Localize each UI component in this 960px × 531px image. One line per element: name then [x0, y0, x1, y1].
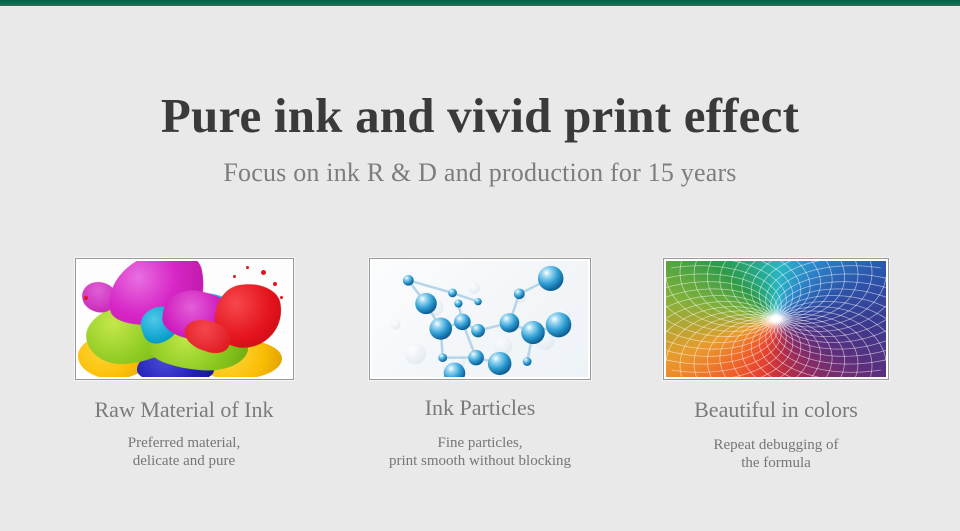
top-accent-bar: [0, 0, 960, 6]
color-wheel-spiral-image: [666, 261, 886, 377]
feature-row: Raw Material of Ink Preferred material, …: [0, 258, 960, 472]
feature-description-1: Preferred material, delicate and pure: [128, 434, 240, 470]
spiral-grid-overlay: [666, 261, 886, 377]
feature-image-frame-3: [663, 258, 889, 380]
feature-description-3: Repeat debugging of the formula: [714, 436, 839, 472]
feature-title-1: Raw Material of Ink: [95, 396, 274, 424]
page-title: Pure ink and vivid print effect: [0, 86, 960, 146]
paint-splash-image: [78, 261, 291, 377]
feature-card-beautiful-colors: Beautiful in colors Repeat debugging of …: [631, 258, 921, 472]
feature-image-frame-2: [369, 258, 591, 380]
ink-particles-molecule-image: [372, 261, 588, 377]
hero-section: Pure ink and vivid print effect Focus on…: [0, 86, 960, 190]
page-subtitle: Focus on ink R & D and production for 15…: [0, 156, 960, 190]
feature-card-raw-material: Raw Material of Ink Preferred material, …: [39, 258, 329, 470]
feature-card-ink-particles: Ink Particles Fine particles, print smoo…: [335, 258, 625, 470]
feature-image-frame-1: [75, 258, 294, 380]
feature-title-2: Ink Particles: [425, 394, 536, 422]
feature-title-3: Beautiful in colors: [694, 396, 858, 424]
feature-description-2: Fine particles, print smooth without blo…: [389, 434, 571, 470]
